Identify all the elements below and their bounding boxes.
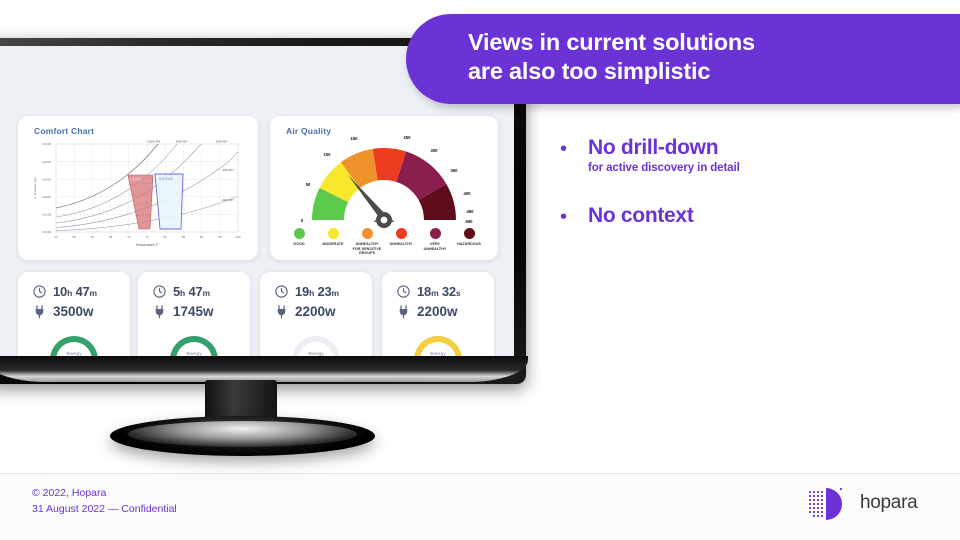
clock-icon — [274, 284, 289, 299]
zone-label-05clo: 0.5 CLO — [159, 177, 173, 181]
rh-label-20: 20% RH — [222, 198, 234, 202]
legend-dot-hazardous — [464, 228, 475, 239]
y-tick-0010: 0.0010 — [42, 195, 52, 199]
bullet-title: No drill-down — [588, 136, 740, 160]
device-runtime-value: 19h 23m — [295, 284, 339, 299]
x-tick-60: 60 — [91, 235, 95, 239]
device-runtime: 10h 47m — [32, 284, 130, 299]
bullet-marker-icon: • — [560, 136, 588, 159]
slide-title-line1: Views in current solutions — [468, 28, 950, 57]
rh-label-40: 40% RH — [222, 168, 234, 172]
device-power-value: 1745w — [173, 304, 214, 319]
legend-label-moderate: MODERATE — [316, 242, 350, 247]
x-tick-50: 50 — [54, 235, 58, 239]
device-power: 1745w — [152, 304, 250, 319]
rh-label-80: 80% RH — [176, 139, 188, 143]
gauge-tick-350: 350 — [451, 168, 459, 173]
rh-label-100: 100% RH — [147, 139, 160, 143]
legend-dot-moderate — [328, 228, 339, 239]
x-tick-55: 55 — [73, 235, 77, 239]
plug-icon — [274, 304, 289, 319]
x-tick-95: 95 — [218, 235, 222, 239]
y-tick-0000: 0.0000 — [42, 230, 52, 234]
bullet-item-context: • No context — [560, 204, 950, 228]
y-tick-0025: 0.0025 — [42, 142, 52, 146]
legend-dot-good — [294, 228, 305, 239]
device-efficiency-label: Energy Efficiency — [412, 351, 464, 356]
x-tick-80: 80 — [164, 235, 168, 239]
legend-item-usg: UNHEALTHY FOR SENSITIVE GROUPS — [350, 228, 384, 256]
y-tick-0005: 0.0005 — [42, 213, 52, 217]
x-tick-70: 70 — [127, 235, 131, 239]
device-efficiency-ring: Energy Efficiency — [168, 334, 220, 356]
hopara-logo: hopara — [800, 484, 930, 524]
gauge-tick-450: 450 — [467, 209, 475, 214]
monitor-stand-base-highlight — [128, 421, 357, 447]
footer-copyright: © 2022, Hopara — [32, 485, 177, 501]
device-power: 2200w — [274, 304, 372, 319]
x-tick-75: 75 — [145, 235, 149, 239]
device-card-ventilator[interactable]: 5h 47m 1745w Energy — [138, 272, 250, 356]
gauge-tick-150: 150 — [351, 136, 359, 141]
legend-label-unhealthy: UNHEALTHY — [384, 242, 418, 247]
comfort-chart-title: Comfort Chart — [34, 126, 94, 136]
device-card-ac1[interactable]: 19h 23m 2200w Energy — [260, 272, 372, 356]
air-quality-panel: Air Quality — [270, 116, 498, 260]
plug-icon — [396, 304, 411, 319]
comfort-chart-panel: Comfort Chart — [18, 116, 258, 260]
zone-label-1clo: 1 CLO — [130, 178, 141, 182]
air-quality-gauge: 0 50 100 150 200 250 300 350 400 450 500 — [276, 136, 492, 228]
legend-item-good: GOOD — [282, 228, 316, 256]
gauge-tick-0: 0 — [301, 218, 304, 223]
x-tick-90: 90 — [200, 235, 204, 239]
device-efficiency-label: Energy Efficiency — [290, 351, 342, 356]
device-card-ac2[interactable]: 18m 32s 2200w Energy — [382, 272, 494, 356]
monitor-bezel-bottom — [0, 356, 528, 382]
air-quality-title: Air Quality — [286, 126, 331, 136]
legend-item-hazardous: HAZARDOUS — [452, 228, 486, 256]
device-runtime-value: 10h 47m — [53, 284, 97, 299]
plug-icon — [152, 304, 167, 319]
device-power: 2200w — [396, 304, 494, 319]
slide: Comfort Chart — [0, 0, 960, 540]
device-card-heater[interactable]: 10h 47m 3500w Energy — [18, 272, 130, 356]
clock-icon — [152, 284, 167, 299]
clock-icon — [32, 284, 47, 299]
device-efficiency-ring: Energy Efficiency — [290, 334, 342, 356]
device-runtime-value: 18m 32s — [417, 284, 460, 299]
device-power-value: 2200w — [417, 304, 458, 319]
legend-item-unhealthy: UNHEALTHY — [384, 228, 418, 256]
device-power-value: 2200w — [295, 304, 336, 319]
footer-date-confidential: 31 August 2022 — Confidential — [32, 501, 177, 517]
y-tick-0015: 0.0015 — [42, 177, 52, 181]
slide-title-line2: are also too simplistic — [468, 57, 950, 86]
title-banner: Views in current solutions are also too … — [406, 14, 960, 104]
bullet-item-drill-down: • No drill-down for active discovery in … — [560, 136, 950, 176]
legend-label-good: GOOD — [282, 242, 316, 247]
comfort-chart-svg: 1 CLO 0.5 CLO 100% RH 80% RH 60% RH 40% … — [26, 138, 250, 254]
legend-item-moderate: MODERATE — [316, 228, 350, 256]
hopara-logo-mark — [800, 484, 856, 524]
legend-dot-very-unhealthy — [430, 228, 441, 239]
device-efficiency-ring: Energy Efficiency — [412, 334, 464, 356]
gauge-tick-500: 500 — [466, 219, 474, 224]
device-efficiency-ring: Energy Efficiency — [48, 334, 100, 356]
device-power-value: 3500w — [53, 304, 94, 319]
bullet-list: • No drill-down for active discovery in … — [560, 136, 950, 256]
device-runtime: 18m 32s — [396, 284, 494, 299]
bullet-title: No context — [588, 204, 694, 228]
legend-label-hazardous: HAZARDOUS — [452, 242, 486, 247]
footer-divider — [0, 473, 960, 474]
gauge-tick-100: 100 — [324, 152, 332, 157]
gauge-tick-300: 300 — [431, 148, 439, 153]
device-runtime: 5h 47m — [152, 284, 250, 299]
gauge-needle — [348, 175, 394, 228]
x-tick-100: 100 — [235, 235, 240, 239]
gauge-tick-400: 400 — [464, 191, 472, 196]
slide-title: Views in current solutions are also too … — [468, 28, 950, 86]
x-tick-65: 65 — [109, 235, 113, 239]
rh-label-60: 60% RH — [216, 139, 228, 143]
footer-text: © 2022, Hopara 31 August 2022 — Confiden… — [32, 485, 177, 517]
legend-label-very-2: UNHEALTHY — [418, 247, 452, 252]
x-tick-85: 85 — [182, 235, 186, 239]
bullet-marker-icon: • — [560, 204, 588, 227]
legend-item-very-unhealthy: VERY UNHEALTHY — [418, 228, 452, 256]
legend-dot-unhealthy — [396, 228, 407, 239]
y-tick-0020: 0.0020 — [42, 160, 52, 164]
x-axis-label: Temperature, F — [136, 243, 159, 247]
bullet-subtitle: for active discovery in detail — [588, 161, 740, 176]
device-efficiency-label: Energy Efficiency — [48, 351, 100, 356]
clock-icon — [396, 284, 411, 299]
legend-dot-usg — [362, 228, 373, 239]
device-runtime-value: 5h 47m — [173, 284, 210, 299]
y-axis-label: w, moisture ratio — [33, 177, 37, 199]
device-power: 3500w — [32, 304, 130, 319]
hopara-logo-text: hopara — [860, 492, 917, 514]
air-quality-legend: GOOD MODERATE UNHEALTHY FOR SENSITIVE GR… — [276, 228, 492, 256]
device-runtime: 19h 23m — [274, 284, 372, 299]
plug-icon — [32, 304, 47, 319]
gauge-tick-50: 50 — [306, 182, 311, 187]
device-efficiency-label: Energy Efficiency — [168, 351, 220, 356]
gauge-tick-250: 250 — [404, 136, 412, 140]
legend-label-usg-3: GROUPS — [350, 251, 384, 256]
